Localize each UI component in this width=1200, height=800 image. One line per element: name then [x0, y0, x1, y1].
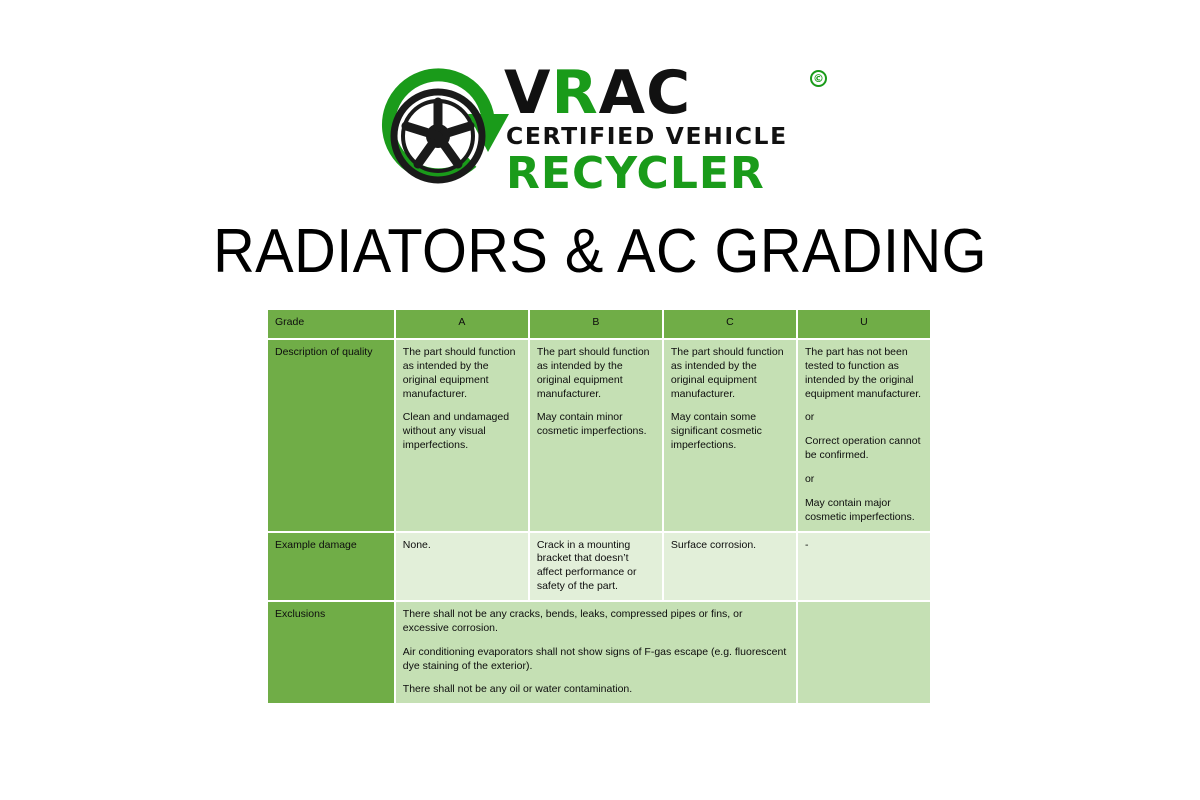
cell-description-b: The part should function as intended by …	[530, 340, 662, 531]
logo-tagline: CERTIFIED VEHICLE	[506, 122, 788, 150]
cell-example-damage-c: Surface corrosion.	[664, 533, 796, 600]
table-header: Grade A B C U	[268, 310, 930, 338]
page-root: VRAC © CERTIFIED VEHICLE RECYCLER RADIAT…	[0, 0, 1200, 800]
cell-paragraph: or	[805, 411, 923, 425]
cell-paragraph: The part should function as intended by …	[537, 346, 655, 401]
cell-paragraph: May contain some significant cosmetic im…	[671, 411, 789, 453]
header-column-c: C	[664, 310, 796, 338]
logo-vrac-text: VRAC	[504, 62, 691, 124]
cell-example-damage-u: -	[798, 533, 930, 600]
table-row: Exclusions There shall not be any cracks…	[268, 602, 930, 703]
table-row: Example damage None. Crack in a mounting…	[268, 533, 930, 600]
page-title: RADIATORS & AC GRADING	[42, 216, 1158, 287]
cell-paragraph: There shall not be any oil or water cont…	[403, 683, 789, 697]
cell-paragraph: The part should function as intended by …	[671, 346, 789, 401]
cell-paragraph: The part has not been tested to function…	[805, 346, 923, 401]
cell-paragraph: There shall not be any cracks, bends, le…	[403, 608, 789, 636]
cell-description-c: The part should function as intended by …	[664, 340, 796, 531]
table-header-row: Grade A B C U	[268, 310, 930, 338]
logo-wordmark: VRAC © CERTIFIED VEHICLE RECYCLER	[504, 62, 836, 202]
cell-exclusions-u	[798, 602, 930, 703]
cell-example-damage-b: Crack in a mounting bracket that doesn’t…	[530, 533, 662, 600]
logo-letter-v: V	[504, 58, 551, 128]
logo-recycler-text: RECYCLER	[506, 148, 765, 199]
cell-exclusions-merged: There shall not be any cracks, bends, le…	[396, 602, 796, 703]
header-column-a: A	[396, 310, 528, 338]
cell-paragraph: or	[805, 473, 923, 487]
row-label-exclusions: Exclusions	[268, 602, 394, 703]
table-body: Description of quality The part should f…	[268, 340, 930, 703]
cell-example-damage-a: None.	[396, 533, 528, 600]
header-grade: Grade	[268, 310, 394, 338]
row-label-description-of-quality: Description of quality	[268, 340, 394, 531]
header-column-u: U	[798, 310, 930, 338]
recycling-wheel-icon	[376, 66, 516, 196]
cell-description-a: The part should function as intended by …	[396, 340, 528, 531]
cell-paragraph: Air conditioning evaporators shall not s…	[403, 646, 789, 674]
copyright-icon: ©	[810, 70, 827, 87]
cell-description-u: The part has not been tested to function…	[798, 340, 930, 531]
cell-paragraph: Correct operation cannot be confirmed.	[805, 435, 923, 463]
logo-letter-r: R	[551, 58, 598, 128]
table-row: Description of quality The part should f…	[268, 340, 930, 531]
row-label-example-damage: Example damage	[268, 533, 394, 600]
cell-paragraph: May contain major cosmetic imperfections…	[805, 497, 923, 525]
cell-paragraph: Clean and undamaged without any visual i…	[403, 411, 521, 453]
vrac-logo: VRAC © CERTIFIED VEHICLE RECYCLER	[376, 62, 836, 202]
cell-paragraph: The part should function as intended by …	[403, 346, 521, 401]
header-column-b: B	[530, 310, 662, 338]
cell-paragraph: May contain minor cosmetic imperfections…	[537, 411, 655, 439]
grading-table: Grade A B C U Description of quality The…	[266, 308, 932, 705]
logo-letters-ac: AC	[599, 58, 691, 128]
